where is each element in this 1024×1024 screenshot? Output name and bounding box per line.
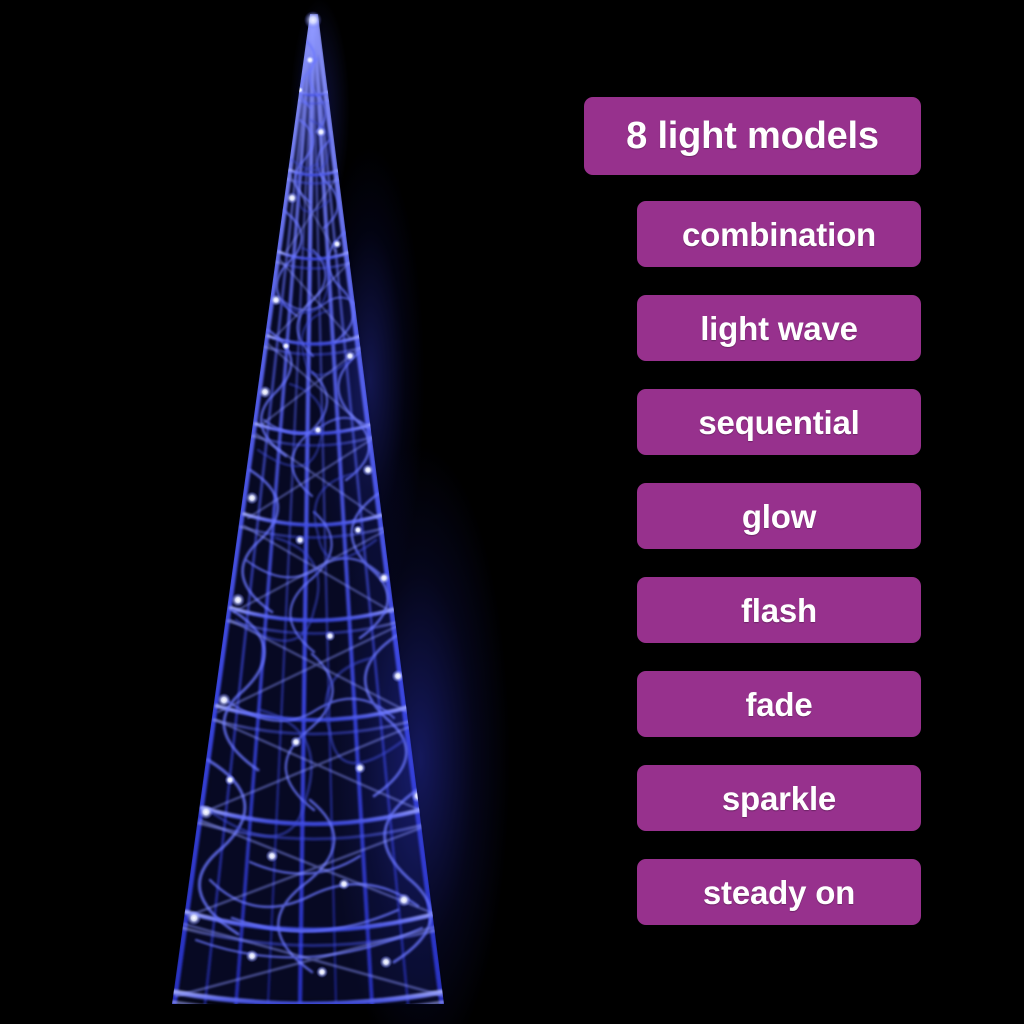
product-feature-graphic: 8 light models combination light wave se… [0, 0, 1024, 1024]
feature-pill-fade[interactable]: fade [637, 671, 921, 737]
feature-pill-steady-on[interactable]: steady on [637, 859, 921, 925]
feature-pill-light-wave[interactable]: light wave [637, 295, 921, 361]
feature-pill-glow[interactable]: glow [637, 483, 921, 549]
feature-pill-combination[interactable]: combination [637, 201, 921, 267]
feature-label: glow [742, 500, 816, 533]
feature-pill-sparkle[interactable]: sparkle [637, 765, 921, 831]
feature-label: light wave [700, 312, 858, 345]
feature-label: 8 light models [626, 117, 879, 155]
feature-label: fade [745, 688, 812, 721]
product-photo [0, 0, 560, 1024]
light-mode-list: 8 light models combination light wave se… [581, 97, 921, 925]
feature-label: steady on [703, 876, 855, 909]
feature-label: flash [741, 594, 817, 627]
acrylic-cone-tree-illustration [0, 0, 560, 1024]
feature-label: combination [682, 218, 876, 251]
feature-pill-heading[interactable]: 8 light models [584, 97, 921, 175]
feature-label: sparkle [722, 782, 836, 815]
feature-pill-sequential[interactable]: sequential [637, 389, 921, 455]
feature-label: sequential [698, 406, 859, 439]
feature-pill-flash[interactable]: flash [637, 577, 921, 643]
